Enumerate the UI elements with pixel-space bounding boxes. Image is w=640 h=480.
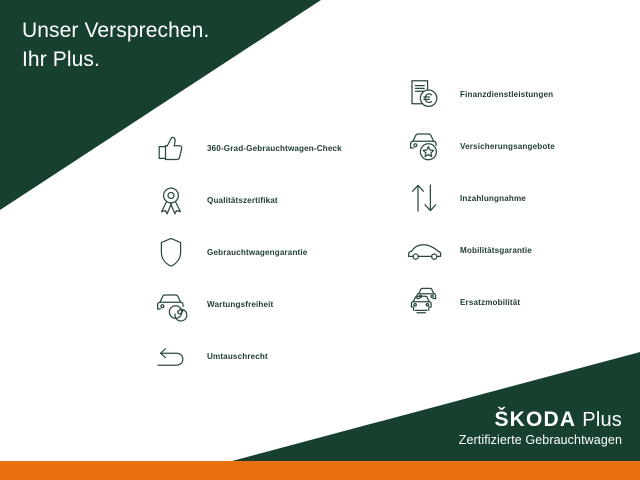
thumbs-up-icon (145, 122, 197, 174)
feature-label: Umtauschrecht (207, 352, 268, 361)
headline-line-2: Ihr Plus. (22, 45, 209, 74)
feature-label: Gebrauchtwagengarantie (207, 248, 307, 257)
feature-label: 360-Grad-Gebrauchtwagen-Check (207, 144, 342, 153)
shield-icon (145, 226, 197, 278)
feature-label: Versicherungsangebote (460, 142, 555, 151)
two-cars-icon (398, 276, 450, 328)
logo-subtitle: Zertifizierte Gebrauchtwagen (459, 432, 622, 448)
feature-label: Inzahlungnahme (460, 194, 526, 203)
return-arrow-icon (145, 330, 197, 382)
feature-label: Mobilitätsgarantie (460, 246, 532, 255)
car-wrench-icon (145, 278, 197, 330)
feature-item: Mobilitätsgarantie (398, 224, 555, 276)
feature-label: Ersatzmobilität (460, 298, 520, 307)
award-rosette-icon (145, 174, 197, 226)
skoda-plus-logo: ŠKODA Plus Zertifizierte Gebrauchtwagen (459, 409, 622, 448)
up-down-arrows-icon (398, 172, 450, 224)
feature-item: Qualitätszertifikat (145, 174, 342, 226)
feature-item: Umtauschrecht (145, 330, 342, 382)
document-euro-icon (398, 68, 450, 120)
car-star-icon (398, 120, 450, 172)
feature-column-right: Finanzdienstleistungen Versicherungsange… (398, 68, 555, 328)
feature-item: 360-Grad-Gebrauchtwagen-Check (145, 122, 342, 174)
feature-label: Finanzdienstleistungen (460, 90, 553, 99)
feature-item: Gebrauchtwagengarantie (145, 226, 342, 278)
feature-item: Versicherungsangebote (398, 120, 555, 172)
logo-wordmark-row: ŠKODA Plus (459, 409, 622, 431)
feature-label: Wartungsfreiheit (207, 300, 273, 309)
skoda-wordmark: ŠKODA (494, 409, 576, 431)
promo-banner: Unser Versprechen. Ihr Plus. 360-Grad-Ge… (0, 0, 640, 480)
feature-label: Qualitätszertifikat (207, 196, 278, 205)
plus-wordmark: Plus (582, 409, 622, 431)
orange-bottom-bar (0, 461, 640, 480)
feature-item: Inzahlungnahme (398, 172, 555, 224)
feature-item: Finanzdienstleistungen (398, 68, 555, 120)
headline: Unser Versprechen. Ihr Plus. (22, 16, 209, 74)
feature-item: Ersatzmobilität (398, 276, 555, 328)
feature-column-left: 360-Grad-Gebrauchtwagen-Check Qualitätsz… (145, 122, 342, 382)
headline-line-1: Unser Versprechen. (22, 16, 209, 45)
car-side-icon (398, 224, 450, 276)
feature-item: Wartungsfreiheit (145, 278, 342, 330)
